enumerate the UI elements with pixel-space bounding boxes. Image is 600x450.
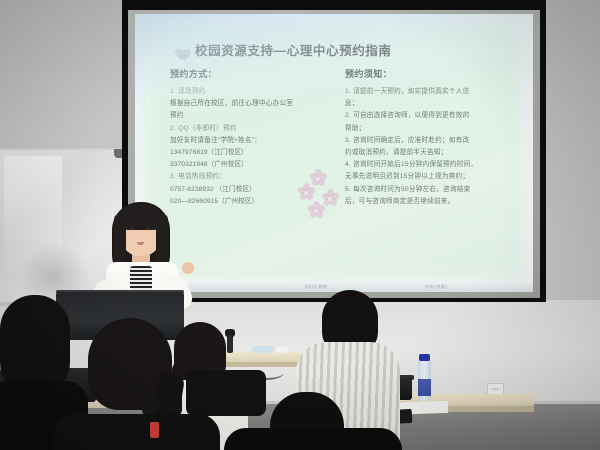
left-line: 根据自己所在校区，前往心理中心办公室 [170, 98, 329, 109]
presenter-hair-right [156, 214, 168, 264]
language-text: 中文(中国) [425, 284, 447, 290]
water-bottle-cap [419, 354, 430, 361]
left-line: 加好友时请备注“学院+姓名”： [170, 135, 329, 146]
student-front-bottom [236, 392, 386, 450]
left-line: 预约 [170, 110, 329, 121]
right-line: 后，可与咨询师商定是否继续前来。 [345, 196, 504, 207]
presenter-hair-left [114, 214, 126, 264]
presenter-eye-right [146, 228, 150, 230]
mouse-pad [252, 346, 274, 353]
presenter-eye-left [130, 228, 134, 230]
classroom-scene: 校园资源支持—心理中心预约指南 预约方式： 1. 现场预约 根据自己所在校区，前… [0, 0, 600, 450]
sakura-flower-decoration [294, 167, 348, 225]
right-line: 2. 可自由选择咨询师，以便得到更有效的 [345, 110, 504, 121]
right-line: 5. 每次咨询时间为50分钟左右，咨询结束 [345, 184, 504, 195]
right-line: 息； [345, 98, 504, 109]
sakura-petal-group [296, 183, 316, 203]
left-line: 2. QQ（非即时）预约 [170, 123, 329, 134]
computer-mouse [276, 346, 288, 353]
left-line: 1347976819（江门校区） [170, 147, 329, 158]
right-column-heading: 预约须知： [345, 67, 504, 80]
slide-column-right: 预约须知： 1. 请提前一天预约，如实提供真实个人信 息； 2. 可自由选择咨询… [345, 67, 504, 208]
right-line: 帮助； [345, 123, 504, 134]
student-front-center [58, 318, 208, 450]
water-bottle-label [418, 379, 431, 396]
presentation-slide: 校园资源支持—心理中心预约指南 预约方式： 1. 现场预约 根据自己所在校区，前… [146, 22, 522, 280]
right-line: 4. 咨询时间开始后15分钟内保留预约时间， [345, 159, 504, 170]
student-body [224, 428, 402, 450]
left-line: 1. 现场预约 [170, 86, 329, 97]
right-line: 约或取消预约，请提前半天告知； [345, 147, 504, 158]
presenter-hand-right [182, 262, 194, 274]
hair-clip [150, 422, 159, 438]
wall-right [545, 0, 600, 330]
right-line: 3. 咨询时间确定后，应准时赴约；如有改 [345, 135, 504, 146]
slide-title-row: 校园资源支持—心理中心预约指南 [172, 40, 392, 59]
student-body [54, 414, 220, 450]
sakura-petal-group [306, 201, 326, 221]
heart-icon [172, 42, 187, 57]
slide-title: 校园资源支持—心理中心预约指南 [195, 40, 392, 59]
right-line: 无事先说明且迟到15分钟以上视为爽约； [345, 171, 504, 182]
left-column-heading: 预约方式： [170, 67, 329, 80]
right-line: 1. 请提前一天预约，如实提供真实个人信 [345, 86, 504, 97]
